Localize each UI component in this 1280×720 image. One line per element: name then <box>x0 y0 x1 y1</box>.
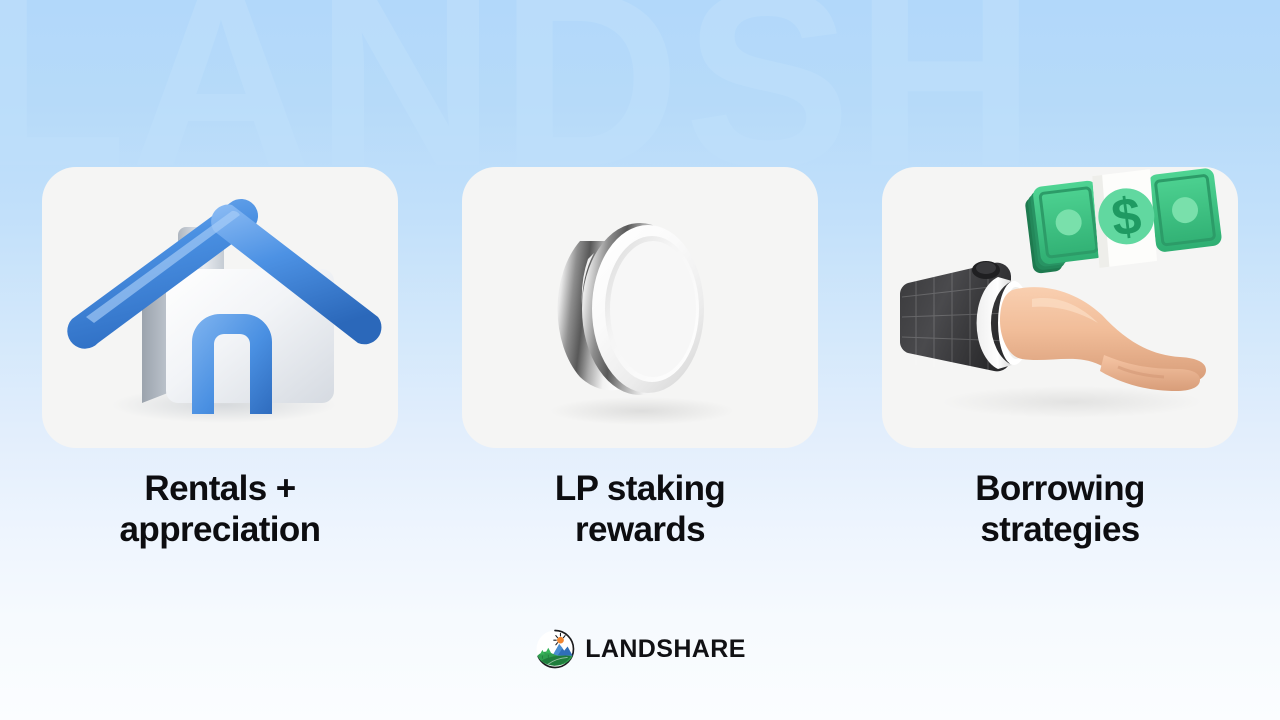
feature-card-borrowing[interactable]: $ <box>882 167 1238 448</box>
feature-label-lp-staking: LP staking rewards <box>462 468 818 551</box>
feature-card-rentals[interactable] <box>42 167 398 448</box>
feature-label-rentals: Rentals + appreciation <box>42 468 398 551</box>
feature-card-lp-staking[interactable] <box>462 167 818 448</box>
house-3d-icon <box>42 167 398 448</box>
feature-label-borrowing: Borrowing strategies <box>882 468 1238 551</box>
landshare-emblem-icon <box>534 628 576 670</box>
feature-label-row: Rentals + appreciation LP staking reward… <box>42 468 1238 551</box>
feature-card-row: $ <box>42 167 1238 448</box>
slide-canvas: LANDSH <box>0 0 1280 720</box>
silver-coin-3d-icon <box>462 167 818 448</box>
landshare-logo[interactable]: LANDSHARE <box>0 628 1280 670</box>
landshare-logo-text: LANDSHARE <box>585 635 746 664</box>
hand-with-cash-3d-icon: $ <box>882 167 1238 448</box>
